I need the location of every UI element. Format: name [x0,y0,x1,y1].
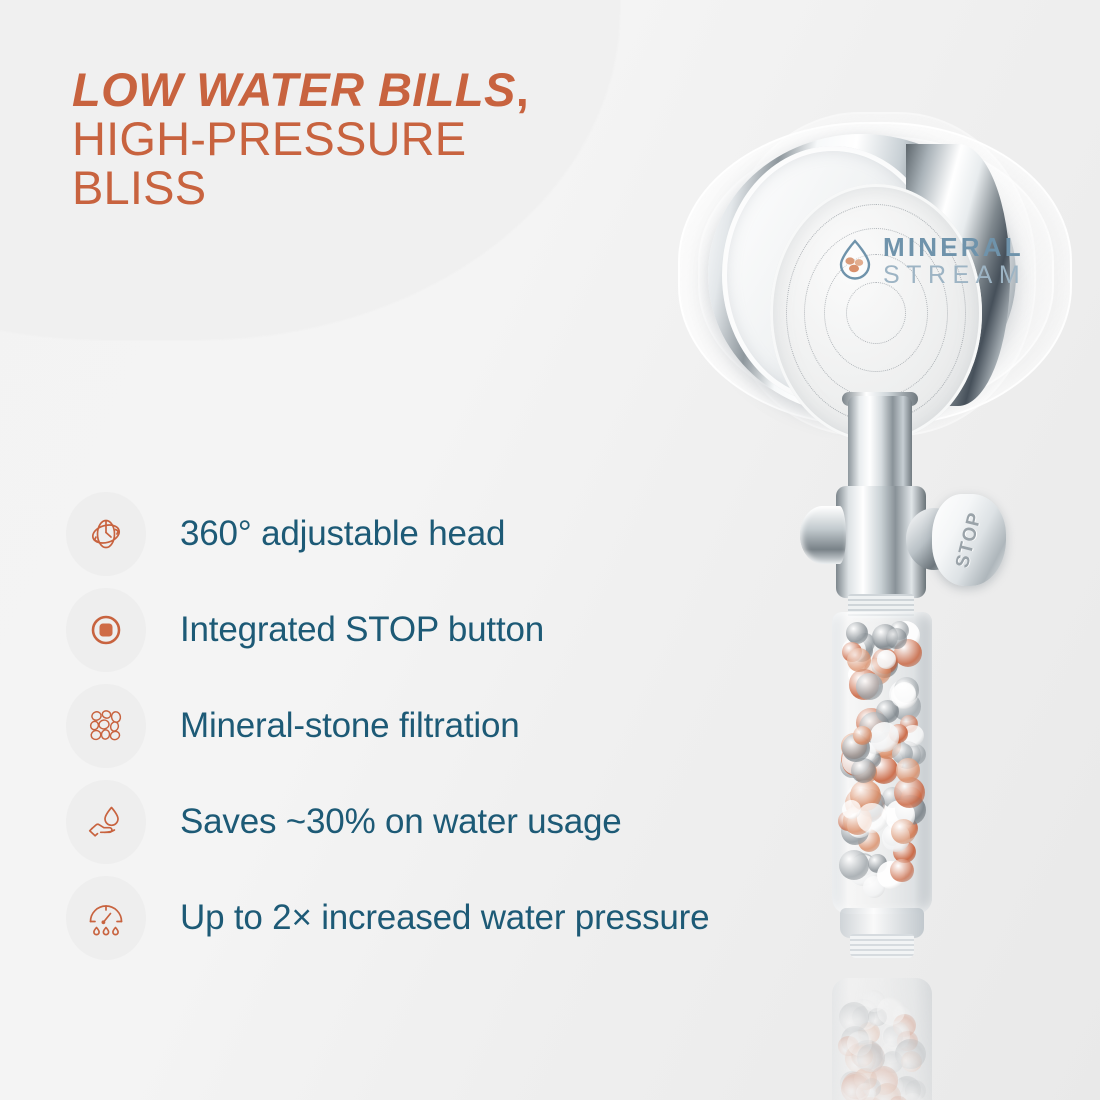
feature-icon-badge [66,684,146,768]
feature-icon-badge [66,780,146,864]
reflection-body [832,978,932,1100]
feature-icon-badge [66,588,146,672]
mineral-filter-cartridge [832,612,932,914]
swivel-neck [848,396,912,492]
stop-knob-label: STOP [951,510,986,571]
water-drop-mineral-icon [836,237,874,286]
mineral-bead [870,722,899,751]
rotate-360-icon [84,512,128,556]
brand-logo: MINERAL STREAM [836,234,1026,288]
hand-water-drop-icon [84,800,128,844]
brand-name-line-1: MINERAL [883,234,1026,260]
headline-line-3: BLISS [72,164,632,213]
mineral-bead [886,628,907,649]
mineral-bead [877,650,896,669]
cartridge-outlet-thread [850,934,914,958]
mineral-bead [853,726,873,746]
brand-name-line-2: STREAM [883,263,1026,288]
mineral-bead [891,683,916,708]
mineral-bead [857,1044,884,1071]
feature-label: Saves ~30% on water usage [180,802,622,843]
headline-block: LOW WATER BILLS, HIGH-PRESSURE BLISS [72,66,632,213]
mineral-bead [895,1039,925,1069]
mineral-bead [896,758,920,782]
mineral-bead [891,819,916,844]
headline-line-1: LOW WATER BILLS, [72,66,632,115]
feature-label: Integrated STOP button [180,610,544,651]
feature-label: Up to 2× increased water pressure [180,898,709,939]
headline-line-1-text: LOW WATER BILLS [72,63,516,116]
mineral-bead [890,859,914,883]
brand-logo-text: MINERAL STREAM [883,234,1026,288]
mineral-bead [856,673,883,700]
pressure-gauge-icon [84,896,128,940]
mineral-stones-icon [84,704,128,748]
mineral-bead [839,850,869,880]
product-reflection [810,962,960,1100]
feature-icon-badge [66,492,146,576]
mineral-bead [839,1003,869,1033]
feature-icon-badge [66,876,146,960]
product-image: MINERAL STREAM STOP [660,96,1100,1100]
product-feature-banner: LOW WATER BILLS, HIGH-PRESSURE BLISS 3 [0,0,1100,1100]
headline-comma: , [516,63,529,116]
feature-label: 360° adjustable head [180,514,505,555]
pivot-cap [800,506,846,564]
stop-knob[interactable]: STOP [932,494,1006,586]
headline-line-2: HIGH-PRESSURE [72,115,632,164]
mineral-bead [857,803,887,833]
stop-button-icon [84,608,128,652]
feature-label: Mineral-stone filtration [180,706,520,747]
nozzle-ring [846,282,906,344]
